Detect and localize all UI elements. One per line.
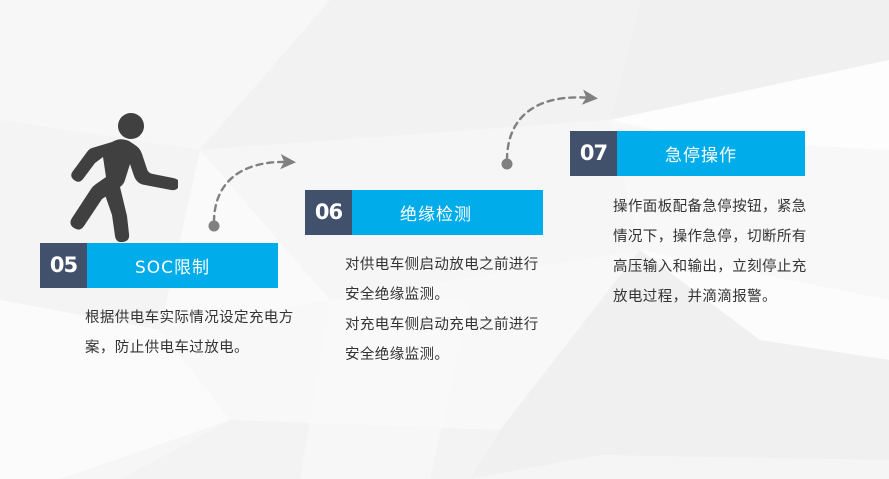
step-07-title: 急停操作: [617, 141, 737, 166]
step-card-07[interactable]: 07 急停操作 操作面板配备急停按钮，紧急情况下，操作急停，切断所有高压输入和输…: [570, 131, 805, 312]
step-06-number: 06: [305, 190, 352, 235]
step-card-06[interactable]: 06 绝缘检测 对供电车侧启动放电之前进行安全绝缘监测。 对充电车侧启动充电之前…: [305, 190, 543, 370]
step-07-body-text: 操作面板配备急停按钮，紧急情况下，操作急停，切断所有高压输入和输出，立刻停止充放…: [570, 192, 815, 312]
step-06-body-text: 对供电车侧启动放电之前进行安全绝缘监测。 对充电车侧启动充电之前进行安全绝缘监测…: [305, 250, 550, 370]
step-06-title-bar: 绝缘检测: [352, 190, 543, 235]
step-07-number: 07: [570, 131, 617, 176]
walking-person-icon: [68, 112, 178, 242]
step-06-header[interactable]: 06 绝缘检测: [305, 190, 543, 235]
step-07-title-bar: 急停操作: [617, 131, 805, 176]
step-05-header[interactable]: 05 SOC限制: [40, 243, 278, 288]
slide-canvas: 05 SOC限制 根据供电车实际情况设定充电方案，防止供电车过放电。 06 绝缘…: [0, 0, 889, 479]
step-card-05[interactable]: 05 SOC限制 根据供电车实际情况设定充电方案，防止供电车过放电。: [40, 243, 278, 363]
step-05-number: 05: [40, 243, 87, 288]
step-07-header[interactable]: 07 急停操作: [570, 131, 805, 176]
step-05-title-bar: SOC限制: [87, 243, 278, 288]
step-05-title: SOC限制: [87, 253, 210, 278]
step-06-title: 绝缘检测: [352, 200, 472, 225]
step-05-body-text: 根据供电车实际情况设定充电方案，防止供电车过放电。: [40, 303, 300, 363]
